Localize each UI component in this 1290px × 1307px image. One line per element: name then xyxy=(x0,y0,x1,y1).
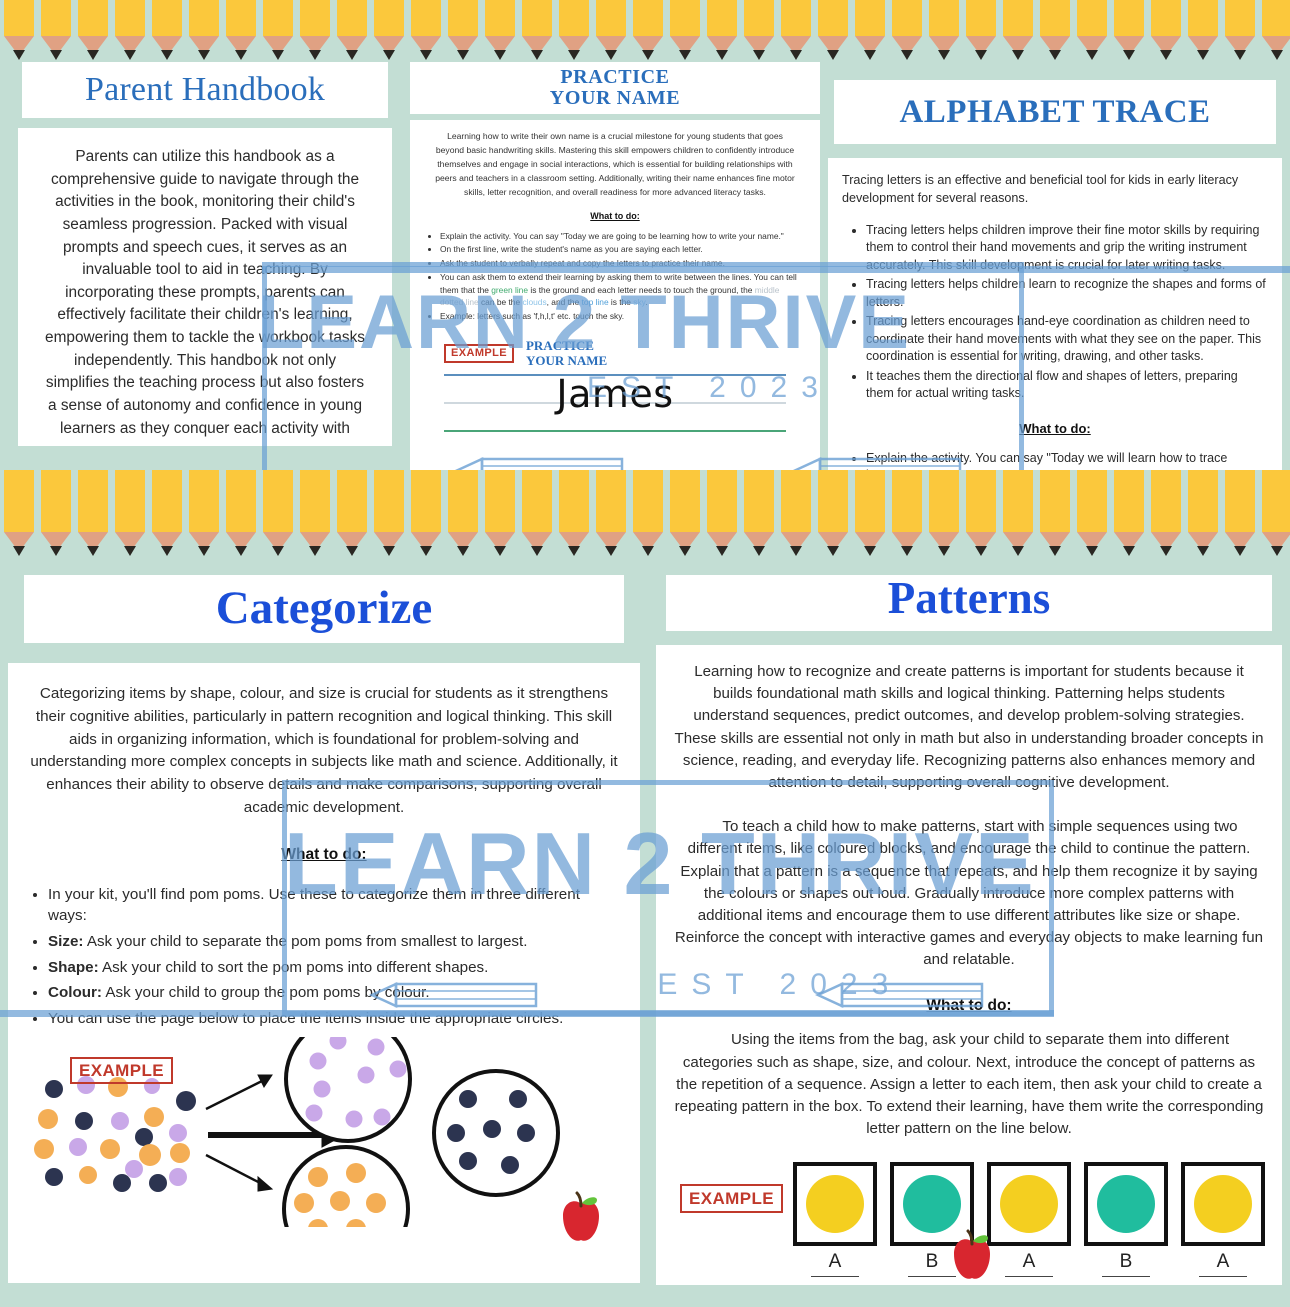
patterns-paragraph-1: Learning how to recognize and create pat… xyxy=(674,661,1264,794)
practice-name-card: PRACTICE YOUR NAME Learning how to write… xyxy=(410,62,820,470)
pencil-icon xyxy=(185,0,222,60)
list-item: Colour: Ask your child to group the pom … xyxy=(48,982,622,1004)
pencil-icon xyxy=(481,0,518,60)
pencil-icon xyxy=(1073,0,1110,60)
card-shell: Patterns Learning how to recognize and c… xyxy=(648,565,1290,1299)
list-item: Tracing letters encourages hand-eye coor… xyxy=(866,313,1268,366)
pencil-icon xyxy=(851,470,888,556)
pencil-border-middle xyxy=(0,470,1290,575)
written-name: James xyxy=(556,372,673,416)
pencil-icon xyxy=(222,0,259,60)
pattern-cell: A xyxy=(1181,1162,1265,1277)
pencil-icon xyxy=(629,0,666,60)
pencil-icon xyxy=(777,0,814,60)
pencil-icon xyxy=(962,0,999,60)
parent-handbook-card: Parent Handbook Parents can utilize this… xyxy=(0,62,410,470)
practice-body: Learning how to write their own name is … xyxy=(410,120,820,470)
example-title: PRACTICE YOUR NAME xyxy=(526,339,607,368)
alphabet-paragraph: Tracing letters is an effective and bene… xyxy=(842,172,1268,208)
alphabet-tail-list: Explain the activity. You can say "Today… xyxy=(866,450,1268,470)
green-line-term: green line xyxy=(491,285,528,295)
pencil-icon xyxy=(0,0,37,60)
pencil-icon xyxy=(1147,470,1184,556)
pencil-icon xyxy=(444,470,481,556)
patterns-body: Learning how to recognize and create pat… xyxy=(656,645,1282,1285)
list-item: Example: letters such as 'f,h,l,t' etc. … xyxy=(440,310,804,323)
pencil-icon xyxy=(592,470,629,556)
pencil-icon xyxy=(1073,470,1110,556)
pattern-letter: A xyxy=(1199,1251,1248,1277)
categorize-example-diagram: EXAMPLE xyxy=(26,1037,622,1227)
pencil-icon xyxy=(111,470,148,556)
example-header-row: EXAMPLE PRACTICE YOUR NAME xyxy=(444,339,786,368)
pencil-icon xyxy=(1147,0,1184,60)
practice-paragraph: Learning how to write their own name is … xyxy=(426,130,804,200)
pencil-icon xyxy=(370,470,407,556)
what-to-do-label: What to do: xyxy=(842,421,1268,436)
apple-icon xyxy=(946,1228,998,1284)
list-item: Size: Ask your child to separate the pom… xyxy=(48,931,622,953)
patterns-paragraph-3: Using the items from the bag, ask your c… xyxy=(674,1029,1264,1140)
pencil-icon xyxy=(999,470,1036,556)
pencil-icon xyxy=(296,470,333,556)
pencil-icon xyxy=(1110,470,1147,556)
list-item: Tracing letters helps children improve t… xyxy=(866,222,1268,275)
pencil-icon xyxy=(185,470,222,556)
pencil-icon xyxy=(925,0,962,60)
example-stamp: EXAMPLE xyxy=(444,344,514,363)
example-stamp: EXAMPLE xyxy=(70,1057,173,1084)
pencil-icon xyxy=(333,470,370,556)
purple-group-circle xyxy=(286,1037,410,1141)
pencil-icon xyxy=(1258,0,1290,60)
card-shell: Categorize Categorizing items by shape, … xyxy=(0,573,648,1307)
list-item-rich: You can ask them to extend their learnin… xyxy=(440,271,804,309)
example-stamp-wrap: EXAMPLE xyxy=(680,1162,783,1209)
what-to-do-label: What to do: xyxy=(26,846,622,864)
pencil-icon xyxy=(1258,470,1290,556)
pencil-icon xyxy=(666,470,703,556)
pencil-icon xyxy=(999,0,1036,60)
example-title-line2: YOUR NAME xyxy=(526,353,607,368)
pencil-icon xyxy=(555,0,592,60)
pencil-icon xyxy=(1184,470,1221,556)
pattern-dot xyxy=(903,1175,961,1233)
pencil-icon xyxy=(259,0,296,60)
pencil-icon xyxy=(37,470,74,556)
practice-title-band: PRACTICE YOUR NAME xyxy=(410,62,820,114)
list-item: In your kit, you'll find pom poms. Use t… xyxy=(48,884,622,927)
handbook-title-band: Parent Handbook xyxy=(22,62,388,118)
pencil-icon xyxy=(703,0,740,60)
pencil-icon xyxy=(962,470,999,556)
pencil-icon xyxy=(518,0,555,60)
pencil-icon xyxy=(555,470,592,556)
clouds-term: clouds xyxy=(522,297,546,307)
page-title: Categorize xyxy=(216,581,433,635)
pencil-icon xyxy=(592,0,629,60)
card-shell: ALPHABET TRACE Tracing letters is an eff… xyxy=(820,80,1290,488)
pencil-icon xyxy=(37,0,74,60)
pencil-icon xyxy=(296,0,333,60)
pencil-icon xyxy=(629,470,666,556)
categorize-card: Categorize Categorizing items by shape, … xyxy=(0,553,648,1287)
pencil-icon xyxy=(1036,470,1073,556)
pencil-icon xyxy=(1221,470,1258,556)
list-item: Shape: Ask your child to sort the pom po… xyxy=(48,957,622,979)
mixed-pom-pile xyxy=(34,1076,196,1192)
pencil-icon xyxy=(888,0,925,60)
pencil-icon xyxy=(0,470,37,556)
what-to-do-label: What to do: xyxy=(674,997,1264,1015)
page-title: Patterns xyxy=(888,572,1050,624)
sky-term: sky xyxy=(633,297,645,307)
pencil-icon xyxy=(1184,0,1221,60)
pattern-box xyxy=(793,1162,877,1246)
pencil-icon xyxy=(481,470,518,556)
pattern-box xyxy=(987,1162,1071,1246)
pattern-cell: A xyxy=(793,1162,877,1277)
pattern-cell: A xyxy=(987,1162,1071,1277)
list-item: Explain the activity. You can say "Today… xyxy=(440,230,804,243)
page-title-line1: PRACTICE xyxy=(560,67,669,88)
pencil-icon xyxy=(111,0,148,60)
alphabet-title-band: ALPHABET TRACE xyxy=(834,80,1276,144)
pencil-icon xyxy=(407,0,444,60)
pencil-icon xyxy=(1036,0,1073,60)
pencil-icon xyxy=(1221,0,1258,60)
pencil-icon xyxy=(259,470,296,556)
pattern-dot xyxy=(1194,1175,1252,1233)
pencil-icon xyxy=(666,0,703,60)
practice-example-worksheet: EXAMPLE PRACTICE YOUR NAME James xyxy=(432,332,798,444)
pattern-cell: B xyxy=(1084,1162,1168,1277)
patterns-paragraph-2: To teach a child how to make patterns, s… xyxy=(674,816,1264,971)
pencil-icon xyxy=(407,470,444,556)
example-title-line1: PRACTICE xyxy=(526,338,594,353)
handwriting-guide-lines: James xyxy=(444,372,786,434)
pattern-dot xyxy=(1000,1175,1058,1233)
handbook-body: Parents can utilize this handbook as a c… xyxy=(18,128,392,446)
page-title-line2: YOUR NAME xyxy=(550,88,680,109)
pencil-icon xyxy=(925,470,962,556)
list-item: On the first line, write the student's n… xyxy=(440,243,804,256)
pencil-icon xyxy=(1110,0,1147,60)
pattern-letter: A xyxy=(811,1251,860,1277)
pattern-letter: A xyxy=(1005,1251,1054,1277)
pencil-icon xyxy=(370,0,407,60)
categorize-paragraph: Categorizing items by shape, colour, and… xyxy=(26,683,622,820)
orange-group-circle xyxy=(284,1147,408,1227)
list-item: Explain the activity. You can say "Today… xyxy=(866,450,1268,470)
alphabet-bullet-list: Tracing letters helps children improve t… xyxy=(866,222,1268,403)
list-item: Ask the student to verbally repeat and c… xyxy=(440,257,804,270)
pattern-sequence: A B A xyxy=(793,1162,1265,1277)
pattern-box xyxy=(1181,1162,1265,1246)
pencil-icon xyxy=(703,470,740,556)
green-ground-line xyxy=(444,430,786,432)
pattern-dot xyxy=(1097,1175,1155,1233)
pencil-icon xyxy=(222,470,259,556)
list-item: You can use the page below to place the … xyxy=(48,1008,622,1030)
alphabet-trace-card: ALPHABET TRACE Tracing letters is an eff… xyxy=(820,62,1290,470)
pattern-dot xyxy=(806,1175,864,1233)
categorize-title-band: Categorize xyxy=(24,573,624,643)
pencil-icon xyxy=(777,470,814,556)
list-item: It teaches them the directional flow and… xyxy=(866,368,1268,403)
pencil-icon xyxy=(888,470,925,556)
pencil-icon xyxy=(740,470,777,556)
card-shell: PRACTICE YOUR NAME Learning how to write… xyxy=(410,62,820,470)
page-title: Parent Handbook xyxy=(85,71,325,109)
pencil-icon xyxy=(74,0,111,60)
pencil-icon xyxy=(814,470,851,556)
top-line-term: top line xyxy=(582,297,609,307)
pencil-icon xyxy=(851,0,888,60)
list-item: Tracing letters helps children learn to … xyxy=(866,276,1268,311)
apple-icon xyxy=(555,1190,607,1246)
pencil-icon xyxy=(740,0,777,60)
pencil-icon xyxy=(518,470,555,556)
pencil-icon xyxy=(74,470,111,556)
handbook-paragraph: Parents can utilize this handbook as a c… xyxy=(44,146,366,446)
page-title: ALPHABET TRACE xyxy=(899,94,1210,131)
patterns-card: Patterns Learning how to recognize and c… xyxy=(648,553,1290,1287)
categorize-body: Categorizing items by shape, colour, and… xyxy=(8,663,640,1283)
pencil-border-top xyxy=(0,0,1290,62)
pencil-icon xyxy=(148,0,185,60)
pencil-icon xyxy=(444,0,481,60)
categorize-bullet-list: In your kit, you'll find pom poms. Use t… xyxy=(48,884,622,1029)
pencil-icon xyxy=(333,0,370,60)
pattern-box xyxy=(1084,1162,1168,1246)
pencil-icon xyxy=(148,470,185,556)
example-stamp: EXAMPLE xyxy=(680,1184,783,1213)
navy-group-circle xyxy=(434,1071,558,1195)
pattern-letter: B xyxy=(1102,1251,1151,1277)
pencil-icon xyxy=(814,0,851,60)
alphabet-body: Tracing letters is an effective and bene… xyxy=(828,158,1282,470)
what-to-do-label: What to do: xyxy=(426,211,804,221)
card-shell: Parent Handbook Parents can utilize this… xyxy=(0,62,410,470)
practice-bullet-list: Explain the activity. You can say "Today… xyxy=(440,230,804,323)
